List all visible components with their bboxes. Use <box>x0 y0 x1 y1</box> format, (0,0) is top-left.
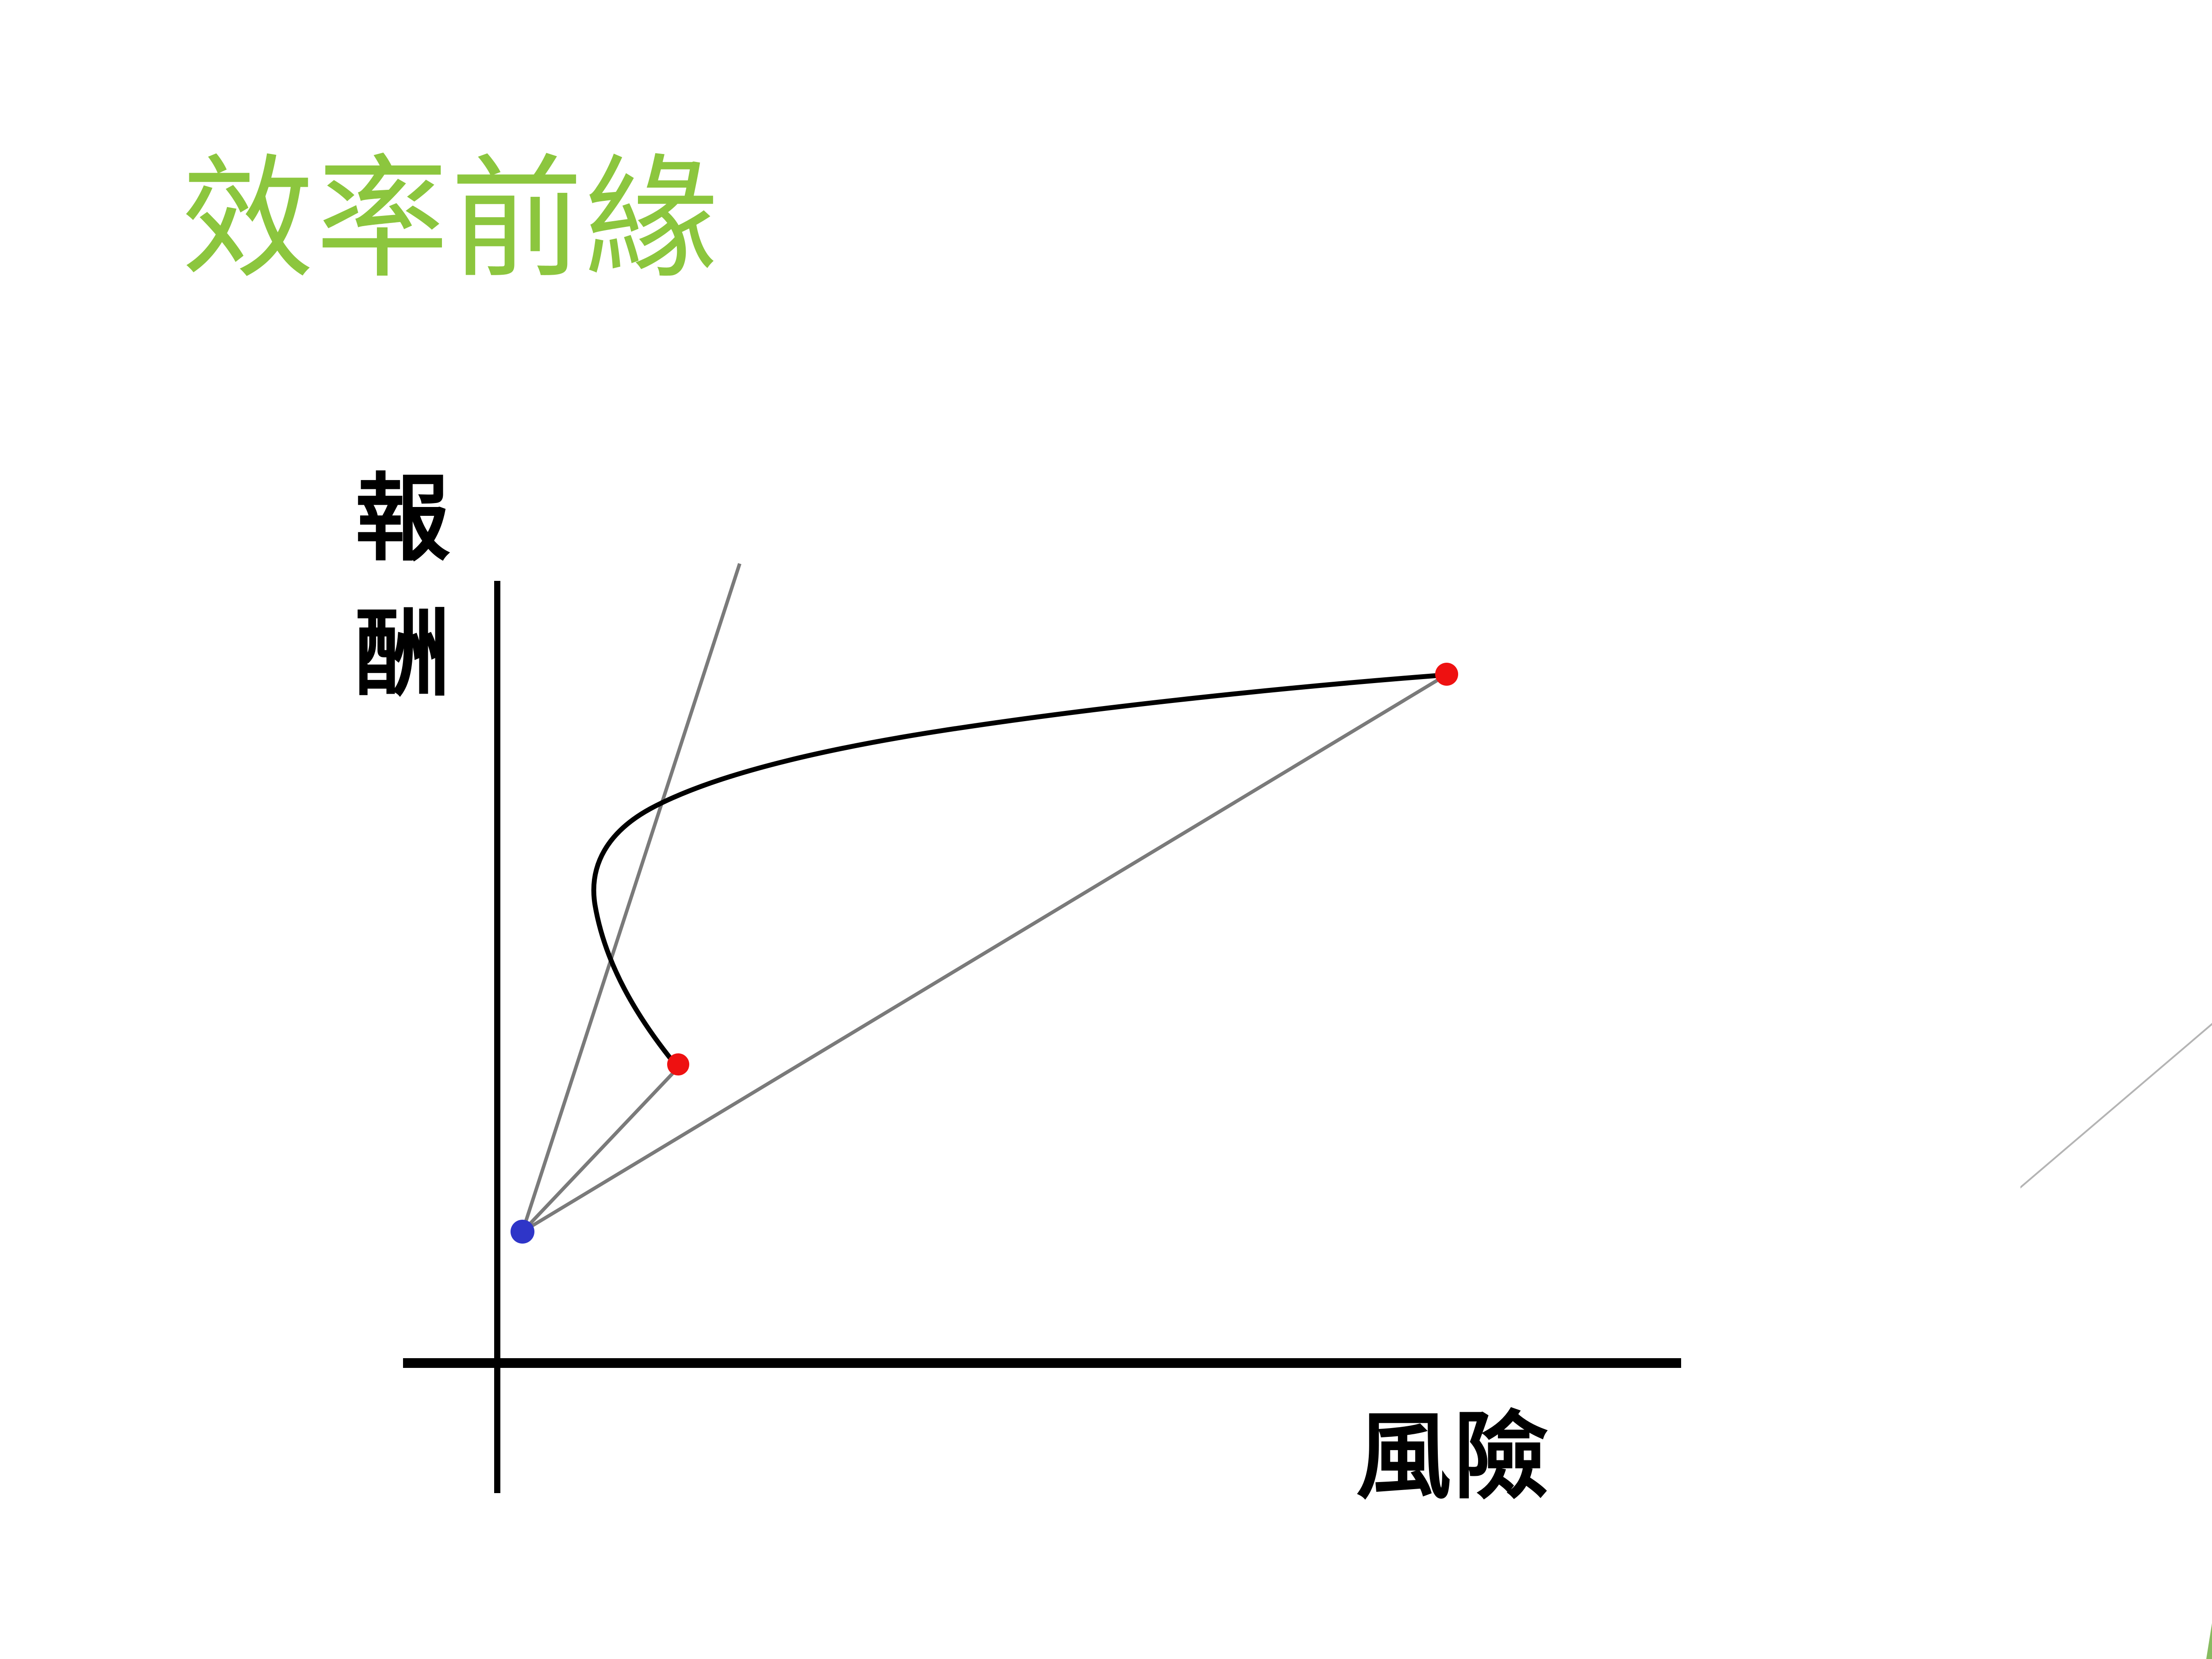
market-portfolio-point <box>1435 663 1458 686</box>
x-axis-label: 風險 <box>1356 1409 1551 1504</box>
risk-free-point <box>511 1220 534 1244</box>
capital-market-line-tangent <box>522 675 1447 1232</box>
capital-allocation-line-steep <box>522 564 740 1232</box>
y-axis-label: 報酬 <box>349 451 456 722</box>
green-polygon-corner-art <box>2020 0 2212 1659</box>
efficient-frontier-curve <box>594 675 1443 1065</box>
deco-shape-mid-1 <box>2206 0 2212 1659</box>
efficient-frontier-chart <box>0 0 1858 1659</box>
capital-allocation-line-shallow <box>522 1066 680 1232</box>
deco-hairline-2 <box>2020 787 2212 1659</box>
minimum-variance-portfolio-point <box>667 1053 689 1075</box>
slide-canvas: 效率前緣 報酬 風險 <box>0 0 2212 1659</box>
